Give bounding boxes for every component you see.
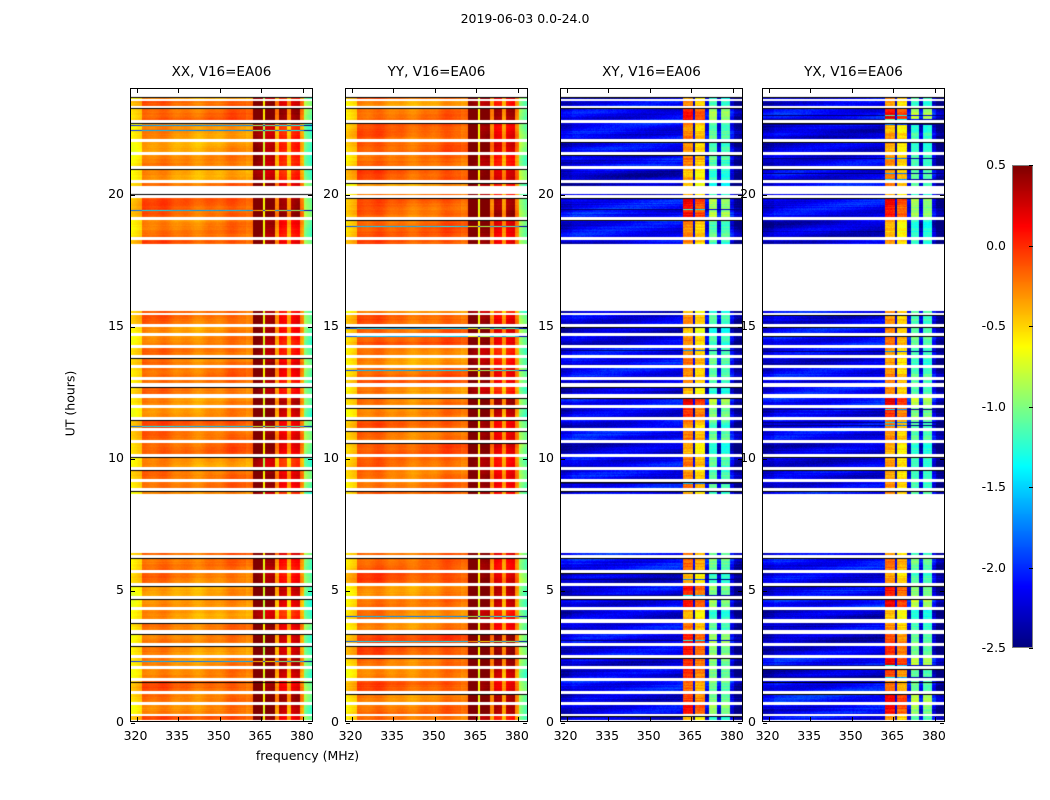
y-tick-label-p1-15: 15 [303,318,339,333]
y-tick-20 [561,195,565,196]
colorbar-tick-1 [1029,246,1033,247]
y-tick-label-p0-0: 0 [88,714,124,729]
y-tick-10 [763,459,767,460]
colorbar-tick-label-6: -2.5 [968,640,1006,655]
x-tick-top-365 [261,89,262,93]
waterfall-image-yy [346,89,527,721]
x-tick-top-350 [220,89,221,93]
y-tick-label-p3-0: 0 [720,714,756,729]
y-tick-right-15 [940,327,944,328]
y-tick-label-p2-10: 10 [518,450,554,465]
x-tick-label-320: 320 [114,728,158,743]
y-tick-15 [131,327,135,328]
x-tick-350 [650,717,651,721]
colorbar[interactable]: 0.50.0-0.5-1.0-1.5-2.0-2.5 log10 amplitu… [1012,165,1033,648]
x-tick-label-335: 335 [787,728,831,743]
y-tick-0 [346,723,350,724]
figure-canvas: 2019-06-03 0.0-24.0 XX, V16=EA06YY, V16=… [0,0,1050,800]
y-tick-label-p3-5: 5 [720,582,756,597]
x-tick-350 [435,717,436,721]
colorbar-tick-label-1: 0.0 [968,238,1006,253]
colorbar-tick-label-4: -1.5 [968,479,1006,494]
y-tick-5 [561,591,565,592]
colorbar-tick-4 [1029,487,1033,488]
y-tick-label-p1-20: 20 [303,186,339,201]
y-tick-label-p0-15: 15 [88,318,124,333]
y-tick-20 [763,195,767,196]
x-tick-335 [608,717,609,721]
y-tick-15 [561,327,565,328]
x-tick-label-320: 320 [329,728,373,743]
x-tick-top-380 [518,89,519,93]
waterfall-panel-yy[interactable]: YY, V16=EA06 [345,88,528,722]
x-tick-top-365 [893,89,894,93]
x-tick-label-380: 380 [495,728,539,743]
y-tick-15 [763,327,767,328]
x-tick-label-365: 365 [668,728,712,743]
x-tick-top-335 [178,89,179,93]
x-tick-top-320 [567,89,568,93]
y-tick-0 [763,723,767,724]
y-tick-label-p2-20: 20 [518,186,554,201]
x-tick-320 [769,717,770,721]
x-tick-top-320 [769,89,770,93]
x-tick-label-365: 365 [238,728,282,743]
colorbar-tick-label-0: 0.5 [968,157,1006,172]
x-tick-335 [178,717,179,721]
x-tick-label-350: 350 [829,728,873,743]
y-tick-label-p3-20: 20 [720,186,756,201]
y-tick-10 [346,459,350,460]
panel-title-yx: YX, V16=EA06 [763,64,944,80]
x-tick-label-380: 380 [280,728,324,743]
x-tick-top-350 [650,89,651,93]
x-tick-label-320: 320 [746,728,790,743]
x-tick-320 [352,717,353,721]
y-tick-right-0 [940,723,944,724]
x-tick-top-320 [352,89,353,93]
y-tick-0 [561,723,565,724]
x-tick-320 [137,717,138,721]
y-tick-5 [131,591,135,592]
waterfall-panel-xy[interactable]: XY, V16=EA06 [560,88,743,722]
y-tick-label-p2-5: 5 [518,582,554,597]
y-tick-5 [346,591,350,592]
x-tick-365 [691,717,692,721]
y-tick-20 [346,195,350,196]
x-tick-label-380: 380 [912,728,956,743]
x-tick-label-350: 350 [627,728,671,743]
y-tick-label-p1-10: 10 [303,450,339,465]
y-tick-15 [346,327,350,328]
y-tick-10 [131,459,135,460]
waterfall-image-xy [561,89,742,721]
colorbar-tick-6 [1029,648,1033,649]
x-tick-top-350 [435,89,436,93]
x-tick-top-365 [476,89,477,93]
panel-title-xx: XX, V16=EA06 [131,64,312,80]
figure-suptitle: 2019-06-03 0.0-24.0 [0,11,1050,26]
y-tick-right-20 [940,195,944,196]
waterfall-image-yx [763,89,944,721]
y-tick-label-p1-0: 0 [303,714,339,729]
x-tick-label-335: 335 [585,728,629,743]
x-tick-label-365: 365 [453,728,497,743]
panel-title-xy: XY, V16=EA06 [561,64,742,80]
y-tick-10 [561,459,565,460]
x-tick-top-335 [393,89,394,93]
colorbar-tick-label-3: -1.0 [968,399,1006,414]
y-tick-0 [131,723,135,724]
x-tick-365 [893,717,894,721]
y-tick-label-p0-10: 10 [88,450,124,465]
x-tick-label-365: 365 [870,728,914,743]
x-tick-label-320: 320 [544,728,588,743]
y-tick-20 [131,195,135,196]
x-tick-365 [261,717,262,721]
colorbar-tick-5 [1029,568,1033,569]
x-tick-top-335 [810,89,811,93]
y-tick-label-p1-5: 5 [303,582,339,597]
y-tick-label-p3-10: 10 [720,450,756,465]
x-tick-label-335: 335 [155,728,199,743]
waterfall-image-xx [131,89,312,721]
x-tick-top-380 [733,89,734,93]
colorbar-tick-2 [1029,326,1033,327]
y-tick-label-p2-0: 0 [518,714,554,729]
x-tick-top-320 [137,89,138,93]
y-tick-5 [763,591,767,592]
x-tick-320 [567,717,568,721]
x-tick-335 [810,717,811,721]
y-axis-label: UT (hours) [63,334,78,474]
x-tick-label-350: 350 [412,728,456,743]
x-tick-label-335: 335 [370,728,414,743]
y-tick-label-p0-20: 20 [88,186,124,201]
waterfall-panel-yx[interactable]: YX, V16=EA06 [762,88,945,722]
x-tick-top-365 [691,89,692,93]
x-tick-top-380 [935,89,936,93]
y-tick-label-p3-15: 15 [720,318,756,333]
x-tick-350 [852,717,853,721]
colorbar-tick-label-2: -0.5 [968,318,1006,333]
x-tick-350 [220,717,221,721]
x-tick-top-350 [852,89,853,93]
y-tick-label-p0-5: 5 [88,582,124,597]
x-tick-380 [935,717,936,721]
x-tick-top-335 [608,89,609,93]
waterfall-panel-xx[interactable]: XX, V16=EA06 [130,88,313,722]
colorbar-tick-3 [1029,407,1033,408]
x-axis-label: frequency (MHz) [0,748,1050,763]
colorbar-tick-0 [1029,165,1033,166]
panel-title-yy: YY, V16=EA06 [346,64,527,80]
colorbar-tick-label-5: -2.0 [968,560,1006,575]
y-tick-right-5 [940,591,944,592]
y-tick-label-p2-15: 15 [518,318,554,333]
y-tick-right-10 [940,459,944,460]
x-tick-365 [476,717,477,721]
x-tick-top-380 [303,89,304,93]
x-tick-label-350: 350 [197,728,241,743]
x-tick-335 [393,717,394,721]
